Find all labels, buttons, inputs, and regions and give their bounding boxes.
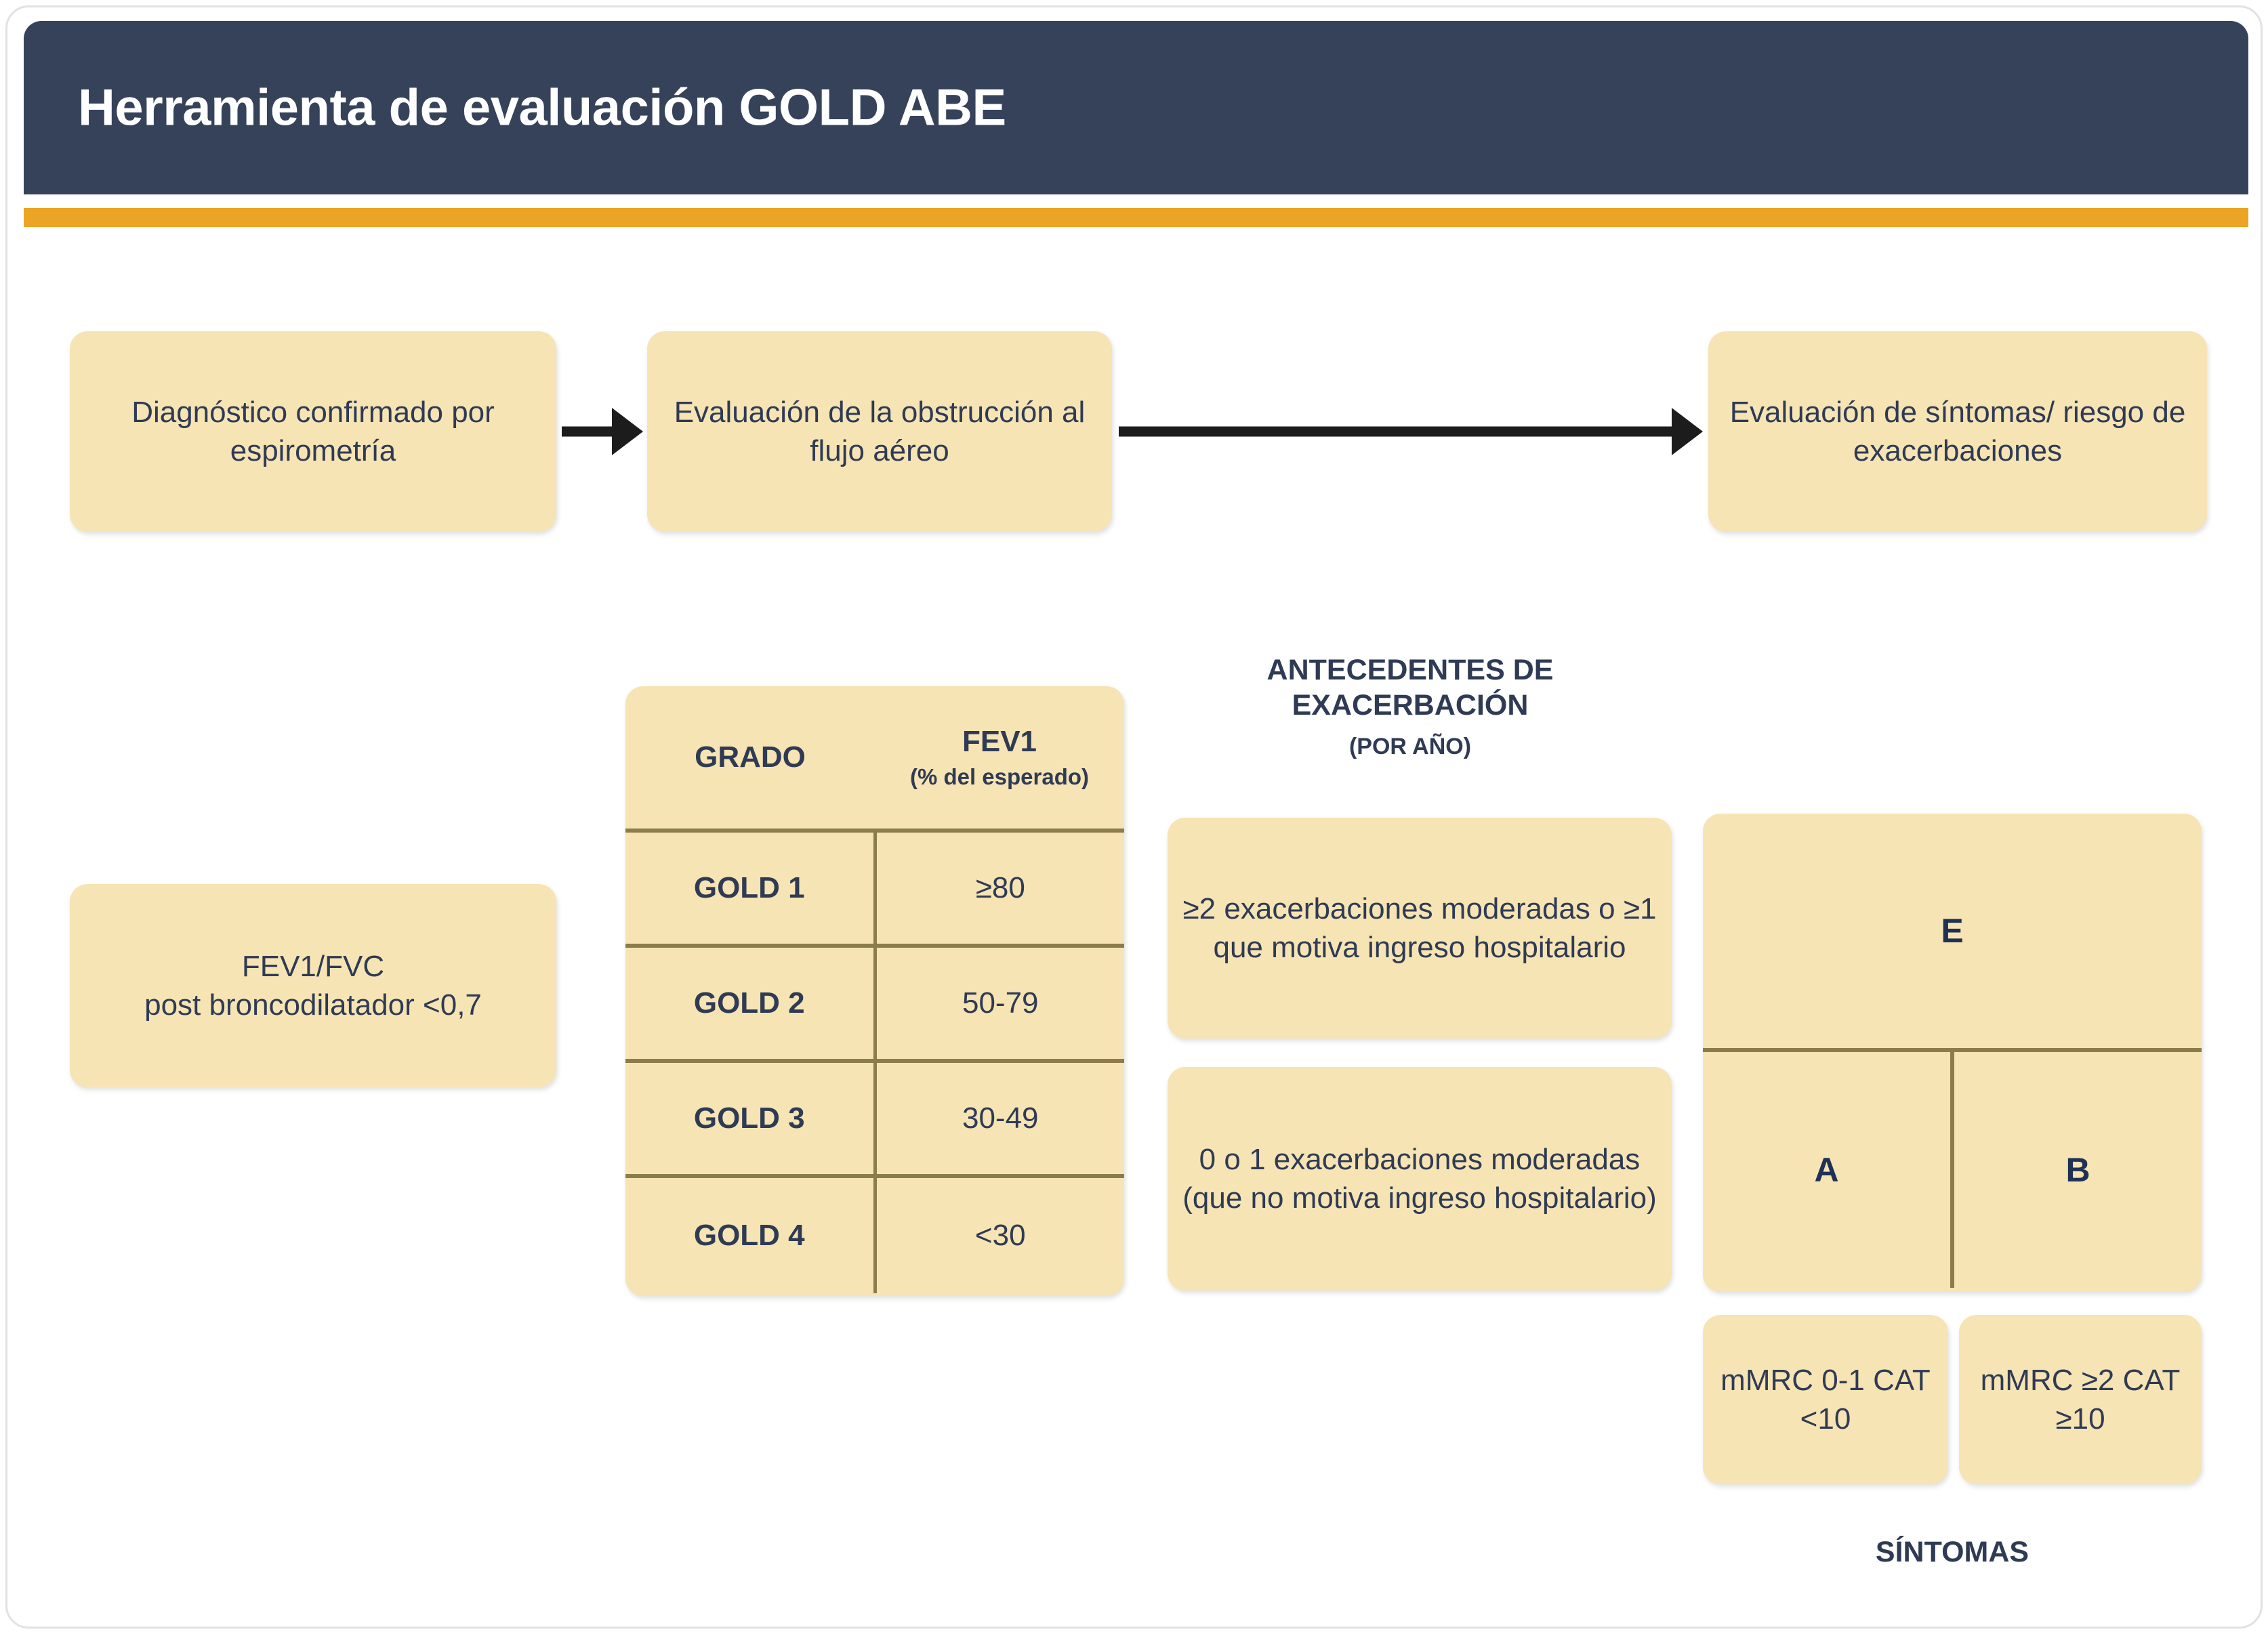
abe-row-ab: A B bbox=[1703, 1052, 2202, 1288]
arrow-shaft bbox=[562, 427, 615, 437]
exacerbation-box-low-risk-label: 0 o 1 exacerbaciones moderadas (que no m… bbox=[1168, 1140, 1672, 1217]
flow-box-diagnosis-label: Diagnóstico confirmado por espirometría bbox=[70, 393, 556, 470]
symptom-box-high-label: mMRC ≥2 CAT ≥10 bbox=[1959, 1361, 2202, 1438]
abe-cell-e-label: E bbox=[1941, 911, 1963, 950]
arrow-shaft bbox=[1119, 427, 1674, 437]
table-row: GOLD 2 50-79 bbox=[625, 948, 1124, 1063]
arrow-head bbox=[612, 408, 643, 455]
abe-cell-e: E bbox=[1703, 814, 2202, 1052]
cell-fev1: 50-79 bbox=[877, 948, 1125, 1059]
exacerbation-box-high-risk: ≥2 exacerbaciones moderadas o ≥1 que mot… bbox=[1168, 818, 1672, 1039]
flow-box-diagnosis: Diagnóstico confirmado por espirometría bbox=[70, 331, 556, 532]
exacerbation-box-low-risk: 0 o 1 exacerbaciones moderadas (que no m… bbox=[1168, 1067, 1672, 1291]
exacerbation-box-high-risk-label: ≥2 exacerbaciones moderadas o ≥1 que mot… bbox=[1168, 889, 1672, 967]
symptom-box-high: mMRC ≥2 CAT ≥10 bbox=[1959, 1315, 2202, 1484]
column-header-grade: GRADO bbox=[625, 740, 875, 774]
cell-fev1: 30-49 bbox=[877, 1063, 1125, 1174]
ratio-line-2: post broncodilatador <0,7 bbox=[144, 986, 482, 1024]
table-row: GOLD 3 30-49 bbox=[625, 1063, 1124, 1178]
abe-cell-b-label: B bbox=[2065, 1150, 2090, 1190]
abe-cell-a-label: A bbox=[1814, 1150, 1838, 1190]
column-header-fev1-sub: (% del esperado) bbox=[875, 764, 1124, 790]
symptoms-axis-label: SÍNTOMAS bbox=[1703, 1536, 2202, 1569]
cell-fev1: ≥80 bbox=[877, 833, 1125, 944]
column-header-fev1: FEV1 (% del esperado) bbox=[875, 725, 1124, 790]
abe-cell-a: A bbox=[1703, 1052, 1954, 1288]
flow-box-symptoms-risk: Evaluación de síntomas/ riesgo de exacer… bbox=[1708, 331, 2207, 532]
exacerbation-history-title: ANTECEDENTES DE EXACERBACIÓN bbox=[1267, 654, 1554, 721]
page-title: Herramienta de evaluación GOLD ABE bbox=[78, 79, 1006, 138]
column-header-fev1-main: FEV1 bbox=[962, 725, 1037, 758]
table-row: GOLD 4 <30 bbox=[625, 1178, 1124, 1293]
header-bar: Herramienta de evaluación GOLD ABE bbox=[24, 21, 2248, 194]
abe-group-grid: E A B bbox=[1703, 814, 2202, 1292]
flow-box-airflow-label: Evaluación de la obstrucción al flujo aé… bbox=[647, 393, 1112, 470]
ratio-line-1: FEV1/FVC bbox=[144, 947, 482, 986]
flow-box-airflow: Evaluación de la obstrucción al flujo aé… bbox=[647, 331, 1112, 532]
exacerbation-per-year-label: (POR AÑO) bbox=[1153, 733, 1668, 761]
table-header-row: GRADO FEV1 (% del esperado) bbox=[625, 686, 1124, 833]
arrow-head bbox=[1672, 408, 1703, 455]
cell-grade: GOLD 4 bbox=[625, 1178, 877, 1293]
table-row: GOLD 1 ≥80 bbox=[625, 833, 1124, 948]
abe-cell-b: B bbox=[1954, 1052, 2202, 1288]
cell-grade: GOLD 1 bbox=[625, 833, 877, 944]
diagram-frame: Herramienta de evaluación GOLD ABE Diagn… bbox=[5, 5, 2263, 1629]
flow-box-symptoms-risk-label: Evaluación de síntomas/ riesgo de exacer… bbox=[1708, 393, 2207, 470]
exacerbation-history-heading: ANTECEDENTES DE EXACERBACIÓN (POR AÑO) bbox=[1153, 652, 1668, 761]
symptom-box-low: mMRC 0-1 CAT <10 bbox=[1703, 1315, 1948, 1484]
cell-fev1: <30 bbox=[877, 1178, 1125, 1293]
fev1-fvc-ratio-box: FEV1/FVC post broncodilatador <0,7 bbox=[70, 884, 556, 1087]
cell-grade: GOLD 3 bbox=[625, 1063, 877, 1174]
gold-grade-table: GRADO FEV1 (% del esperado) GOLD 1 ≥80 G… bbox=[625, 686, 1124, 1296]
accent-bar bbox=[24, 208, 2248, 227]
cell-grade: GOLD 2 bbox=[625, 948, 877, 1059]
symptom-box-low-label: mMRC 0-1 CAT <10 bbox=[1703, 1361, 1948, 1438]
